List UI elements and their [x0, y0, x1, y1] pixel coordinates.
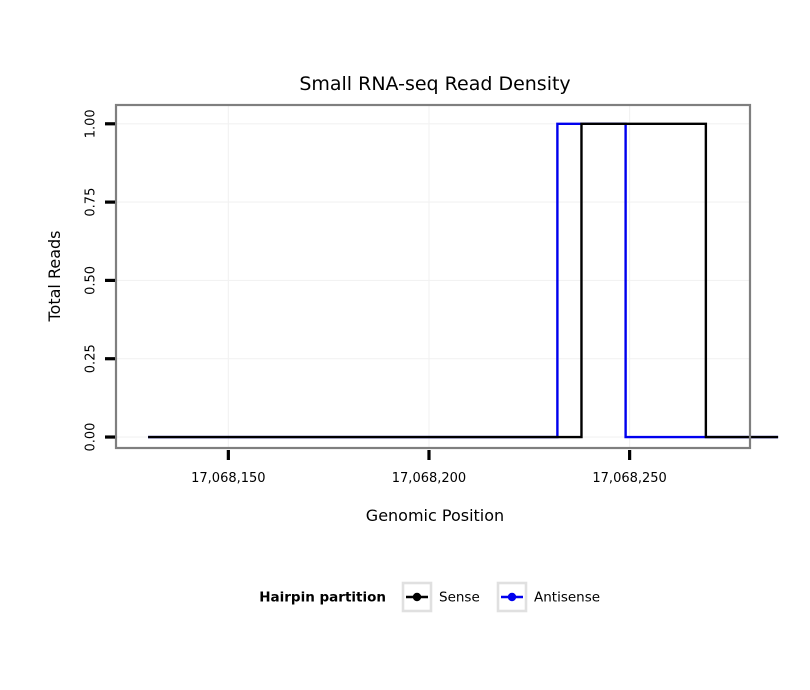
x-axis-title: Genomic Position	[366, 506, 504, 525]
legend-title: Hairpin partition	[259, 590, 386, 606]
legend-key-point-icon	[508, 593, 516, 601]
chart-svg: Small RNA-seq Read Density 0.000.250.500…	[0, 0, 810, 690]
legend-item-label: Antisense	[534, 590, 600, 606]
x-tick-label-0: 17,068,150	[191, 471, 265, 486]
plot-panel-background	[116, 105, 750, 448]
y-tick-label-0: 0.00	[84, 423, 99, 452]
y-tick-label-4: 1.00	[84, 109, 99, 138]
y-tick-label-2: 0.50	[84, 266, 99, 295]
x-tick-label-1: 17,068,200	[392, 471, 466, 486]
chart-figure: Small RNA-seq Read Density 0.000.250.500…	[0, 0, 810, 690]
y-tick-label-3: 0.75	[84, 188, 99, 217]
x-tick-label-2: 17,068,250	[592, 471, 666, 486]
chart-title: Small RNA-seq Read Density	[299, 73, 570, 95]
legend-item-label: Sense	[439, 590, 480, 606]
legend-key-point-icon	[413, 593, 421, 601]
y-axis-title: Total Reads	[45, 231, 64, 323]
y-tick-label-1: 0.25	[84, 344, 99, 373]
